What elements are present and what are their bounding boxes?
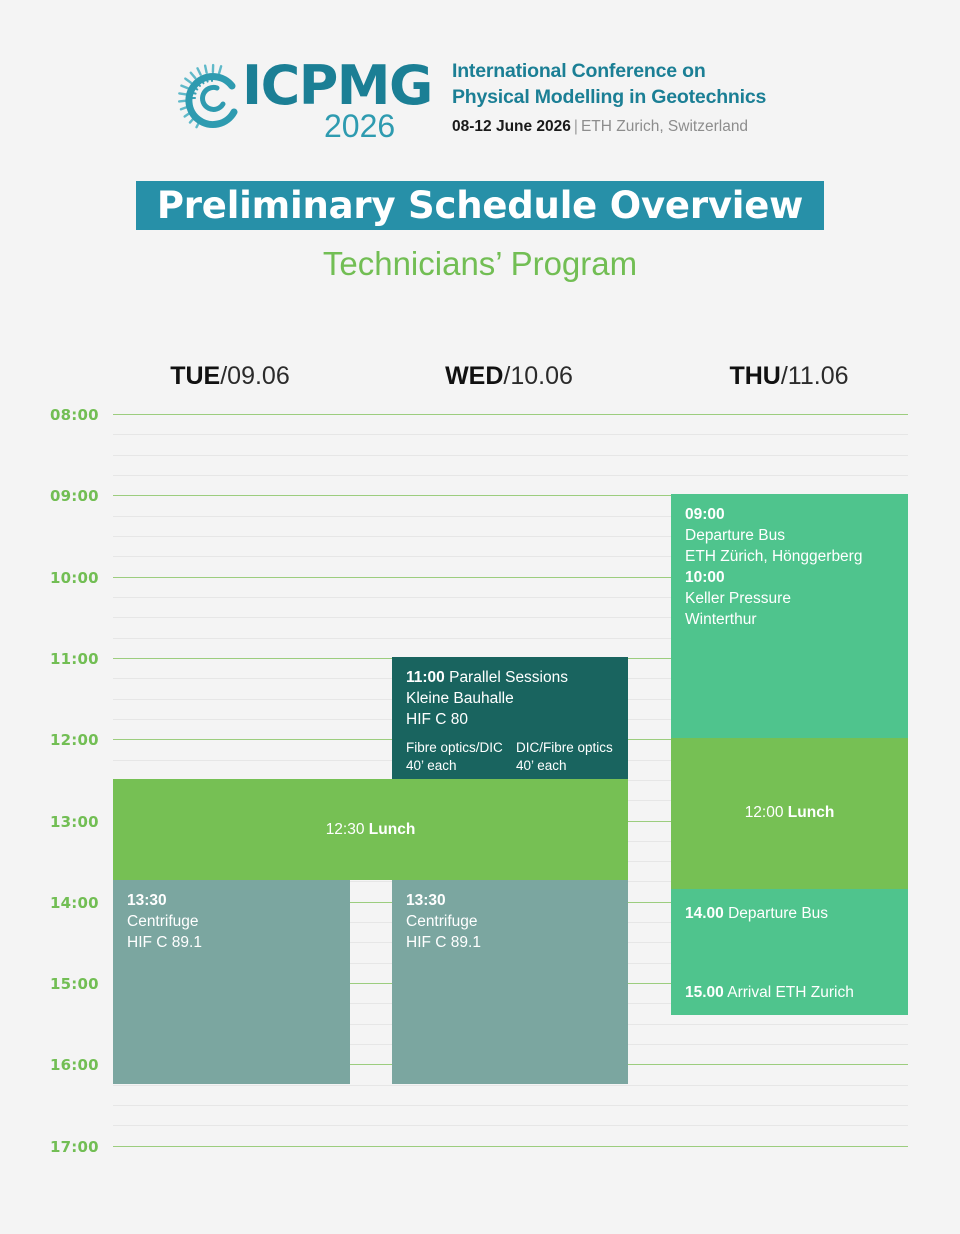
- time-axis-label: 13:00: [50, 813, 110, 831]
- event-lunch-thu[interactable]: 12:00 Lunch: [671, 738, 908, 888]
- gridline-quarter: [113, 434, 908, 435]
- time-axis-label: 12:00: [50, 731, 110, 749]
- time-axis-label: 14:00: [50, 894, 110, 912]
- event-text-line: 09:00: [685, 504, 894, 525]
- lunch-label: 12:00 Lunch: [671, 804, 908, 822]
- event-text-line: HIF C 89.1: [406, 932, 614, 953]
- event-text-line: HIF C 89.1: [127, 932, 336, 953]
- session-name: DIC/Fibre optics: [516, 739, 614, 757]
- time-axis-label: 09:00: [50, 487, 110, 505]
- lunch-label: 12:30 Lunch: [113, 821, 628, 839]
- event-text-line: 13:30: [406, 890, 614, 911]
- event-thu-return[interactable]: 14.00 Departure Bus15.00 Arrival ETH Zur…: [671, 889, 908, 1015]
- event-text-line: Centrifuge: [127, 911, 336, 932]
- time-axis-label: 10:00: [50, 569, 110, 587]
- event-centrifuge-tue[interactable]: 13:30CentrifugeHIF C 89.1: [113, 880, 350, 1083]
- arrival-text: 15.00 Arrival ETH Zurich: [685, 982, 854, 1003]
- parallel-session-column[interactable]: DIC/Fibre optics40’ each: [516, 739, 614, 775]
- event-lunch-tue-wed[interactable]: 12:30 Lunch: [113, 779, 628, 881]
- departure-bus-text: 14.00 Departure Bus: [685, 903, 828, 924]
- parallel-session-column[interactable]: Fibre optics/DIC40’ each: [406, 739, 504, 775]
- event-thu-excursion[interactable]: 09:00Departure BusETH Zürich, Hönggerber…: [671, 494, 908, 738]
- event-title: 11:00 Parallel Sessions: [406, 667, 614, 688]
- gridline-quarter: [113, 1105, 908, 1106]
- time-axis-label: 16:00: [50, 1056, 110, 1074]
- gridline-quarter: [113, 1085, 908, 1086]
- schedule-grid: 08:0009:0010:0011:0012:0013:0014:0015:00…: [0, 0, 960, 1234]
- event-text-line: 13:30: [127, 890, 336, 911]
- time-axis-label: 08:00: [50, 406, 110, 424]
- gridline-quarter: [113, 1125, 908, 1126]
- event-text-line: Keller Pressure: [685, 588, 894, 609]
- day-header-tue: TUE/09.06: [110, 362, 350, 391]
- event-text-line: ETH Zürich, Hönggerberg: [685, 546, 894, 567]
- event-text-line: HIF C 80: [406, 709, 614, 730]
- event-centrifuge-wed[interactable]: 13:30CentrifugeHIF C 89.1: [392, 880, 628, 1083]
- event-text-line: Kleine Bauhalle: [406, 688, 614, 709]
- event-text-line: Winterthur: [685, 609, 894, 630]
- gridline-quarter: [113, 475, 908, 476]
- event-text-line: Departure Bus: [685, 525, 894, 546]
- gridline-quarter: [113, 455, 908, 456]
- event-wed-parallel-sessions[interactable]: 11:00 Parallel SessionsKleine BauhalleHI…: [392, 657, 628, 779]
- day-header-thu: THU/11.06: [669, 362, 909, 391]
- session-duration: 40’ each: [406, 757, 504, 775]
- event-text-line: Centrifuge: [406, 911, 614, 932]
- time-axis-label: 17:00: [50, 1138, 110, 1156]
- gridline-hour: [113, 414, 908, 415]
- day-header-wed: WED/10.06: [389, 362, 629, 391]
- gridline-hour: [113, 1146, 908, 1147]
- time-axis-label: 11:00: [50, 650, 110, 668]
- event-text-line: 10:00: [685, 567, 894, 588]
- time-axis-label: 15:00: [50, 975, 110, 993]
- session-name: Fibre optics/DIC: [406, 739, 504, 757]
- session-duration: 40’ each: [516, 757, 614, 775]
- parallel-session-columns: Fibre optics/DIC40’ eachDIC/Fibre optics…: [392, 739, 628, 775]
